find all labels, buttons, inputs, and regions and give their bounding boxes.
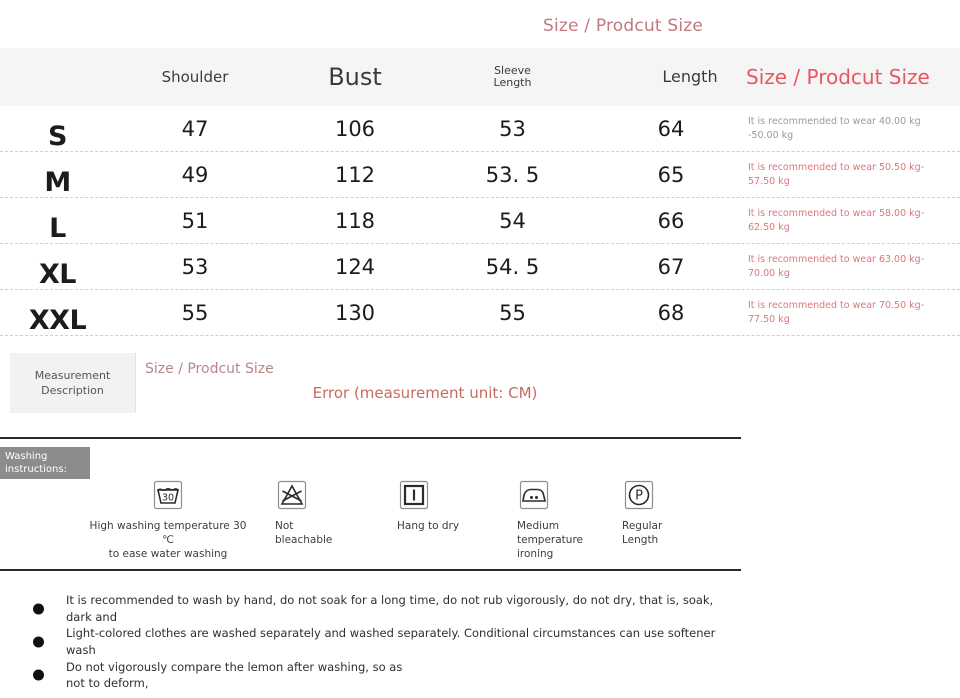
- bullet-text: It is recommended to wash by hand, do no…: [66, 592, 741, 625]
- table-row: XL5312454. 567It is recommended to wear …: [0, 244, 960, 290]
- header-sleeve-length: Sleeve Length: [440, 48, 585, 106]
- header-bust: Bust: [280, 48, 430, 106]
- washing-icon-item: 30High washing temperature 30 ℃ to ease …: [88, 478, 248, 562]
- svg-text:P: P: [635, 489, 643, 504]
- measurement-title: Size / Prodcut Size: [145, 361, 274, 377]
- cell-note: It is recommended to wear 50.50 kg-57.50…: [742, 152, 960, 198]
- washing-icon-item: PRegular Length: [610, 478, 690, 547]
- list-item: Do not vigorously compare the lemon afte…: [0, 659, 741, 692]
- svg-text:30: 30: [162, 493, 174, 504]
- washing-icon-caption: Hang to dry: [397, 519, 459, 533]
- bullet-text: Do not vigorously compare the lemon afte…: [66, 659, 402, 692]
- header-sleeve-line2: Length: [494, 77, 532, 89]
- list-item: Light-colored clothes are washed separat…: [0, 625, 741, 658]
- table-header-band: Shoulder Bust Sleeve Length Length Size …: [0, 48, 960, 106]
- list-item: It is recommended to wash by hand, do no…: [0, 592, 741, 625]
- cell-shoulder: 51: [115, 198, 275, 244]
- cell-size: L: [0, 198, 115, 244]
- washing-icon-item: Hang to dry: [385, 478, 481, 533]
- measurement-description-label: Measurement Description: [10, 353, 136, 413]
- cell-bust: 124: [280, 244, 430, 290]
- table-row: S471065364It is recommended to wear 40.0…: [0, 106, 960, 152]
- cell-bust: 130: [280, 290, 430, 336]
- cell-length: 64: [600, 106, 742, 152]
- cell-size: M: [0, 152, 115, 198]
- washing-icon-caption: Not bleachable: [275, 519, 332, 547]
- table-row: L511185466It is recommended to wear 58.0…: [0, 198, 960, 244]
- measurement-label-line2: Description: [35, 383, 111, 398]
- cell-shoulder: 55: [115, 290, 275, 336]
- cell-length: 67: [600, 244, 742, 290]
- divider-top: [0, 437, 741, 439]
- cell-length: 66: [600, 198, 742, 244]
- washing-instructions-label: Washing instructions:: [0, 447, 90, 479]
- header-size-note: Size / Prodcut Size: [742, 48, 960, 106]
- top-size-label: Size / Prodcut Size: [543, 8, 743, 44]
- cell-shoulder: 49: [115, 152, 275, 198]
- measurement-error-text: Error (measurement unit: CM): [145, 384, 705, 402]
- cell-note: It is recommended to wear 63.00 kg-70.00…: [742, 244, 960, 290]
- bullet-dot-icon: [33, 670, 44, 681]
- washing-icon-caption: High washing temperature 30 ℃ to ease wa…: [88, 519, 248, 562]
- washing-icon-item: Not bleachable: [265, 478, 341, 547]
- washing-icon-item: Medium temperature ironing: [505, 478, 591, 562]
- table-row: M4911253. 565It is recommended to wear 5…: [0, 152, 960, 198]
- cell-size: XL: [0, 244, 115, 290]
- cell-size: XXL: [0, 290, 115, 336]
- cell-sleeve: 55: [440, 290, 585, 336]
- bullet-dot-icon: [33, 637, 44, 648]
- header-shoulder: Shoulder: [115, 48, 275, 106]
- table-row: XXL551305568It is recommended to wear 70…: [0, 290, 960, 336]
- cell-note: It is recommended to wear 40.00 kg -50.0…: [742, 106, 960, 152]
- washing-icon-caption: Regular Length: [622, 519, 662, 547]
- bullet-text: Light-colored clothes are washed separat…: [66, 625, 741, 658]
- size-table-rows: S471065364It is recommended to wear 40.0…: [0, 106, 960, 336]
- cell-shoulder: 47: [115, 106, 275, 152]
- bullet-dot-icon: [33, 603, 44, 614]
- cell-sleeve: 54: [440, 198, 585, 244]
- cell-bust: 106: [280, 106, 430, 152]
- cell-length: 65: [600, 152, 742, 198]
- cell-size: S: [0, 106, 115, 152]
- cell-note: It is recommended to wear 70.50 kg-77.50…: [742, 290, 960, 336]
- measurement-description-block: Measurement Description Size / Prodcut S…: [10, 353, 741, 413]
- cell-length: 68: [600, 290, 742, 336]
- cell-sleeve: 53. 5: [440, 152, 585, 198]
- washing-label-line2: instructions:: [5, 464, 90, 477]
- cell-note: It is recommended to wear 58.00 kg-62.50…: [742, 198, 960, 244]
- cell-sleeve: 54. 5: [440, 244, 585, 290]
- cell-sleeve: 53: [440, 106, 585, 152]
- no-bleach-icon: [275, 478, 309, 512]
- wash-tub-30-icon: 30: [151, 478, 185, 512]
- care-bullet-list: It is recommended to wash by hand, do no…: [0, 592, 741, 692]
- cell-bust: 112: [280, 152, 430, 198]
- washing-icon-caption: Medium temperature ironing: [517, 519, 583, 562]
- washing-icon-row: 30High washing temperature 30 ℃ to ease …: [0, 478, 741, 563]
- cell-shoulder: 53: [115, 244, 275, 290]
- size-chart-page: Size / Prodcut Size Shoulder Bust Sleeve…: [0, 0, 960, 698]
- iron-medium-icon: [517, 478, 551, 512]
- measurement-label-line1: Measurement: [35, 368, 111, 383]
- divider-bottom: [0, 569, 741, 571]
- washing-label-line1: Washing: [5, 451, 90, 464]
- dryclean-p-icon: P: [622, 478, 656, 512]
- hang-to-dry-icon: [397, 478, 431, 512]
- cell-bust: 118: [280, 198, 430, 244]
